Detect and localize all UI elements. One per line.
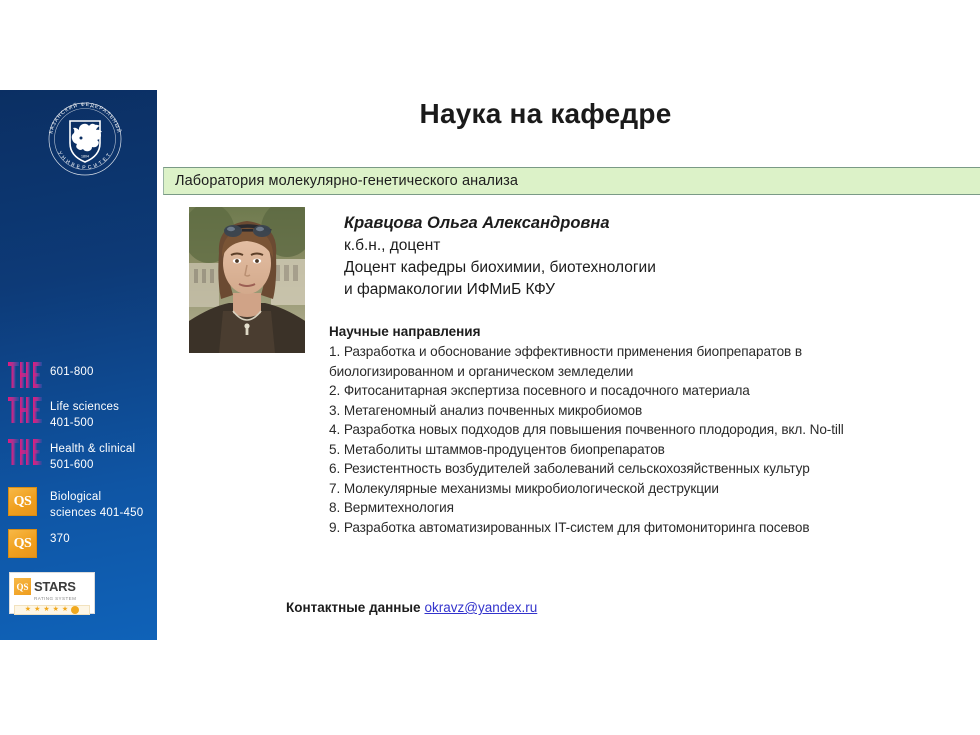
qs-logo-text: QS (14, 495, 32, 509)
person-photo (189, 207, 305, 353)
research-item: 6. Резистентность возбудителей заболеван… (329, 459, 897, 479)
kfu-emblem: КАЗАНСКИЙ ФЕДЕРАЛЬНЫЙ УНИВЕРСИТЕТ 1804 (42, 96, 128, 182)
kfu-emblem-graphic: КАЗАНСКИЙ ФЕДЕРАЛЬНЫЙ УНИВЕРСИТЕТ 1804 (42, 96, 128, 182)
person-info: Кравцова Ольга Александровна к.б.н., доц… (344, 212, 894, 301)
person-position-line2: и фармакологии ИФМиБ КФУ (344, 279, 894, 301)
lab-banner: Лаборатория молекулярно-генетического ан… (163, 167, 980, 195)
star-icon: ★ (53, 606, 59, 613)
research-heading: Научные направления (329, 322, 897, 341)
ranking-row: Health & clinical 501-600 (0, 439, 157, 473)
research-item: 8. Вермитехнология (329, 498, 897, 518)
research-item: 9. Разработка автоматизированных IT-сист… (329, 518, 897, 538)
person-degree: к.б.н., доцент (344, 235, 894, 257)
ranking-row: QS Biological sciences 401-450 (0, 487, 157, 521)
research-item: 5. Метаболиты штаммов-продуцентов биопре… (329, 440, 897, 460)
qs-stars-subtitle: RATING SYSTEM (34, 597, 90, 602)
contact-block: Контактные данныеokravz@yandex.ru (286, 600, 537, 615)
slide-canvas: КАЗАНСКИЙ ФЕДЕРАЛЬНЫЙ УНИВЕРСИТЕТ 1804 (0, 0, 980, 735)
qs-stars-badge: QS STARS RATING SYSTEM ★ ★ ★ ★ ★ (9, 572, 95, 614)
research-item: 7. Молекулярные механизмы микробиологиче… (329, 479, 897, 499)
qs-stars-rating-row: ★ ★ ★ ★ ★ (14, 605, 90, 615)
research-item: 4. Разработка новых подходов для повышен… (329, 420, 897, 440)
qs-stars-mark: QS (14, 578, 31, 595)
research-item: 3. Метагеномный анализ почвенных микроби… (329, 401, 897, 421)
person-name: Кравцова Ольга Александровна (344, 212, 894, 234)
contact-label: Контактные данные (286, 600, 421, 615)
rankings-list: 601-800 (0, 362, 157, 564)
qs-stars-word: STARS (34, 580, 76, 593)
ranking-label: 370 (50, 529, 70, 547)
research-directions: Научные направления 1. Разработка и обос… (329, 322, 897, 537)
ranking-label: Biological sciences 401-450 (50, 487, 143, 521)
page-title: Наука на кафедре (163, 98, 928, 130)
ranking-row: Life sciences 401-500 (0, 397, 157, 431)
qs-logo-text: QS (14, 537, 32, 551)
ranking-label: Health & clinical 501-600 (50, 439, 135, 473)
qs-logo-icon: QS (8, 487, 42, 514)
lab-banner-label: Лаборатория молекулярно-генетического ан… (164, 173, 518, 189)
ranking-row: 601-800 (0, 362, 157, 389)
star-icon: ★ (62, 606, 68, 613)
the-logo-icon (8, 362, 42, 389)
research-item: 1. Разработка и обоснование эффективност… (329, 342, 897, 381)
ranking-row: QS 370 (0, 529, 157, 556)
star-icon: ★ (43, 606, 49, 613)
research-item: 2. Фитосанитарная экспертиза посевного и… (329, 381, 897, 401)
qs-logo-icon: QS (8, 529, 42, 556)
the-logo-icon (8, 439, 42, 466)
left-sidebar: КАЗАНСКИЙ ФЕДЕРАЛЬНЫЙ УНИВЕРСИТЕТ 1804 (0, 90, 157, 640)
star-icon: ★ (25, 606, 31, 613)
contact-email-link[interactable]: okravz@yandex.ru (425, 600, 538, 615)
the-logo-icon (8, 397, 42, 424)
star-dot-icon (71, 606, 79, 614)
star-icon: ★ (34, 606, 40, 613)
ranking-label: 601-800 (50, 362, 94, 380)
ranking-label: Life sciences 401-500 (50, 397, 119, 431)
person-photo-graphic (189, 207, 305, 353)
emblem-year: 1804 (81, 155, 89, 159)
person-position-line1: Доцент кафедры биохимии, биотехнологии (344, 257, 894, 279)
